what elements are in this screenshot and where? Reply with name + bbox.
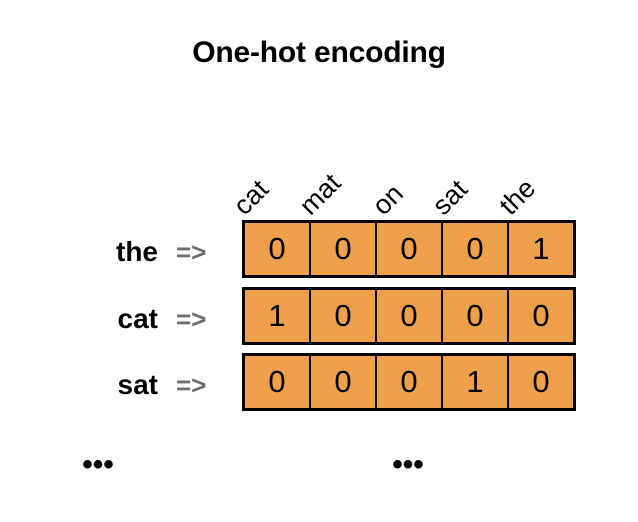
ellipsis-row-labels: ••• [82,450,114,480]
matrix-cell: 1 [509,223,573,275]
column-header-cat: cat [229,175,274,220]
matrix-cell: 0 [311,290,377,342]
matrix-cell: 0 [377,290,443,342]
column-header-the: the [495,174,541,220]
row-label-sat: sat => [48,361,228,409]
matrix-cell: 1 [245,290,311,342]
matrix-row: 0 0 0 0 1 [242,220,576,278]
matrix-row: 1 0 0 0 0 [242,287,576,345]
row-word-cat: cat [68,303,158,335]
matrix-cell: 0 [377,356,443,408]
row-arrow-the: => [176,237,228,268]
matrix-cell: 0 [245,356,311,408]
one-hot-encoding-figure: One-hot encoding cat mat on sat the the … [0,0,638,522]
matrix-cell: 0 [509,356,573,408]
matrix-cell: 0 [443,290,509,342]
column-header-sat: sat [428,175,473,220]
row-arrow-cat: => [176,304,228,335]
matrix-row: 0 0 0 1 0 [242,353,576,411]
matrix-cell: 0 [443,223,509,275]
column-header-group: cat mat on sat the [242,125,576,220]
matrix-cell: 0 [311,356,377,408]
matrix-cell: 0 [311,223,377,275]
row-word-sat: sat [68,369,158,401]
row-label-cat: cat => [48,295,228,343]
matrix-cell: 1 [443,356,509,408]
row-arrow-sat: => [176,370,228,401]
figure-title: One-hot encoding [0,36,638,70]
matrix-cell: 0 [245,223,311,275]
column-header-mat: mat [295,169,346,220]
column-header-on: on [368,180,408,220]
matrix-cell: 0 [509,290,573,342]
row-label-the: the => [48,228,228,276]
ellipsis-matrix: ••• [392,450,424,480]
row-word-the: the [68,236,158,268]
matrix-cell: 0 [377,223,443,275]
